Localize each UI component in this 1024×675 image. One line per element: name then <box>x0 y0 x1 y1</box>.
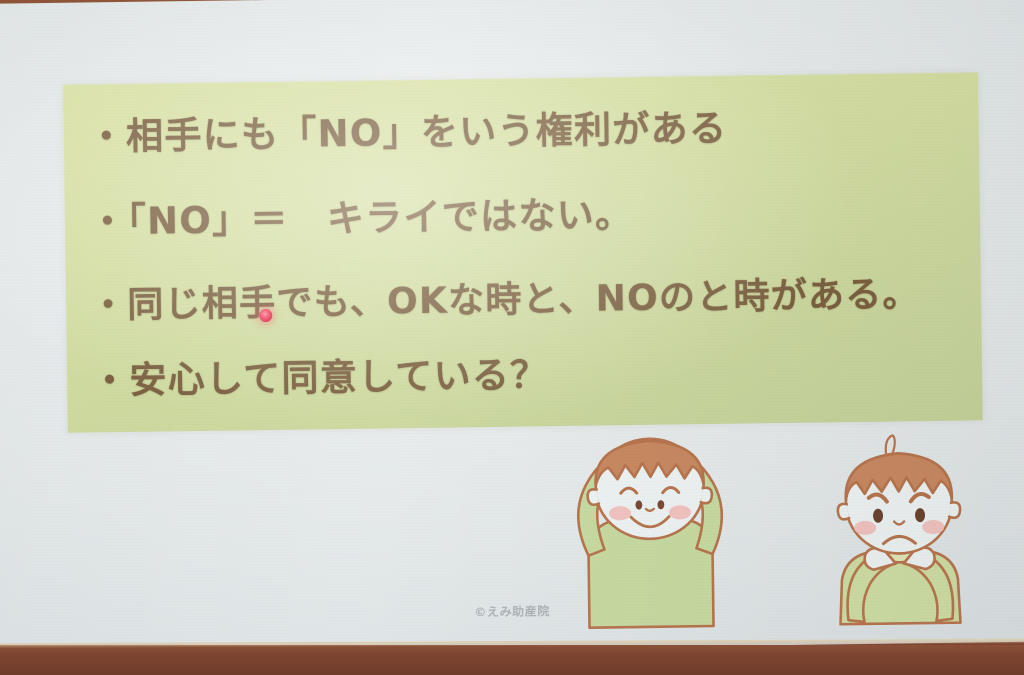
projected-slide-photo: ・相手にも「NO」をいう権利がある ・「NO」＝ キライではない。 ・同じ相手で… <box>0 0 1024 675</box>
watermark-credit: ©えみ助産院 <box>474 602 550 620</box>
bullet-line-4: ・安心して同意している？ <box>91 344 549 404</box>
cowlick-right <box>892 436 895 455</box>
bullet-line-3: ・同じ相手でも、OKな時と、NOのと時がある。 <box>90 265 920 328</box>
child-arms-up-ok-illustration <box>524 429 777 632</box>
projection-screen: ・相手にも「NO」をいう権利がある ・「NO」＝ キライではない。 ・同じ相手で… <box>0 0 1024 656</box>
bullet-line-2: ・「NO」＝ キライではない。 <box>89 184 634 245</box>
illustration-group: ©えみ助産院 <box>446 420 1009 643</box>
cowlick-left <box>886 436 893 456</box>
bullet-text-panel: ・相手にも「NO」をいう権利がある ・「NO」＝ キライではない。 ・同じ相手で… <box>63 72 983 432</box>
slide-content: ・相手にも「NO」をいう権利がある ・「NO」＝ キライではない。 ・同じ相手で… <box>0 0 1024 675</box>
child-arms-crossed-no-illustration <box>798 430 1001 628</box>
bullet-line-1: ・相手にも「NO」をいう権利がある <box>87 98 727 161</box>
wall-band-bottom <box>0 645 1024 675</box>
laser-pointer-dot <box>259 309 272 322</box>
